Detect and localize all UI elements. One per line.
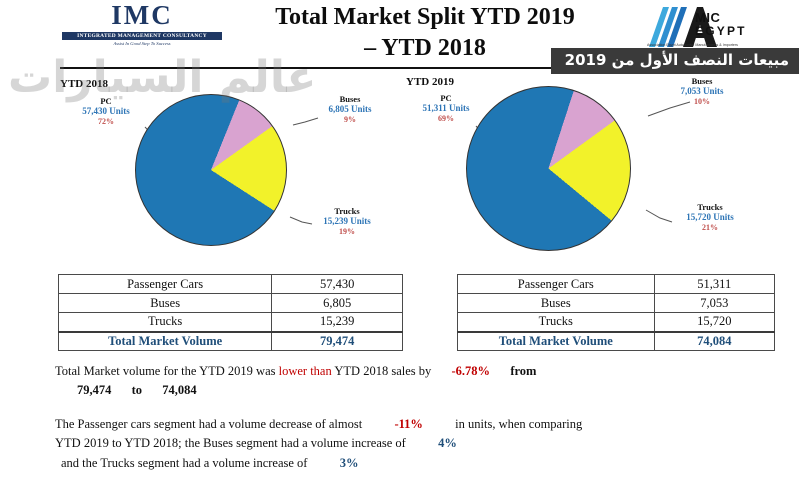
cell-value: 51,311 bbox=[654, 275, 774, 294]
summary-2-line-3: and the Trucks segment had a volume incr… bbox=[55, 454, 582, 473]
chart-panel-ytd-2018: YTD 2018 PC 57,430 Units 72% Buses 6,805… bbox=[50, 72, 410, 262]
table-row: Passenger Cars 51,311 bbox=[458, 275, 775, 294]
summary-1-to-word: to bbox=[132, 383, 142, 397]
cell-label: Trucks bbox=[59, 313, 272, 332]
amic-logo: MIC EGYPT Association Egypt Automotive M… bbox=[643, 3, 761, 49]
callout-pc-percent-right: 69% bbox=[400, 114, 492, 123]
cell-label: Passenger Cars bbox=[458, 275, 655, 294]
summary-paragraph-2: The Passenger cars segment had a volume … bbox=[55, 415, 582, 473]
callout-pc-units-right: 51,311 Units bbox=[400, 103, 492, 114]
callout-pc-right: PC 51,311 Units 69% bbox=[400, 93, 492, 123]
cell-value: 15,720 bbox=[654, 313, 774, 332]
callout-buses-label-right: Buses bbox=[666, 76, 738, 86]
summary-2-pc-percent: -11% bbox=[394, 417, 422, 431]
summary-2-text-c: YTD 2019 to YTD 2018; the Buses segment … bbox=[55, 436, 406, 450]
amic-subtitle: Association Egypt Automotive Manufacture… bbox=[647, 43, 738, 47]
summary-1-text-a: Total Market volume for the YTD 2019 was bbox=[55, 364, 275, 378]
callout-pc-units-left: 57,430 Units bbox=[60, 106, 152, 117]
amic-mic-text: MIC bbox=[695, 11, 747, 24]
table-row: Trucks 15,720 bbox=[458, 313, 775, 332]
arabic-banner: مبيعات النصف الأول من 2019 bbox=[551, 48, 799, 74]
cell-value: 15,239 bbox=[272, 313, 403, 332]
summary-1-to-value: 74,084 bbox=[162, 383, 196, 397]
table-ytd-2018: Passenger Cars 57,430 Buses 6,805 Trucks… bbox=[58, 274, 403, 351]
summary-2-buses-percent: 4% bbox=[438, 436, 457, 450]
summary-1-from-value: 79,474 bbox=[77, 383, 111, 397]
summary-1-highlight: lower than bbox=[279, 364, 332, 378]
callout-buses-percent-left: 9% bbox=[315, 115, 385, 124]
callout-pc-label-right: PC bbox=[400, 93, 492, 103]
callout-trucks-percent-right: 21% bbox=[670, 223, 750, 232]
table-ytd-2019: Passenger Cars 51,311 Buses 7,053 Trucks… bbox=[457, 274, 775, 351]
summary-paragraph-1: Total Market volume for the YTD 2019 was… bbox=[55, 362, 536, 401]
summary-2-line-1: The Passenger cars segment had a volume … bbox=[55, 415, 582, 434]
table-total-row: Total Market Volume 74,084 bbox=[458, 332, 775, 351]
imc-subtagline: Assist In Good Step To Success bbox=[62, 41, 222, 46]
callout-pc-percent-left: 72% bbox=[60, 117, 152, 126]
cell-total-value: 79,474 bbox=[272, 332, 403, 351]
table-total-row: Total Market Volume 79,474 bbox=[59, 332, 403, 351]
callout-trucks-label-right: Trucks bbox=[670, 202, 750, 212]
callout-trucks-label-left: Trucks bbox=[308, 206, 386, 216]
pie-chart-ytd-2018 bbox=[135, 94, 287, 246]
imc-logo: IMC INTEGRATED MANAGEMENT CONSULTANCY As… bbox=[62, 2, 222, 46]
cell-total-label: Total Market Volume bbox=[458, 332, 655, 351]
callout-trucks-units-right: 15,720 Units bbox=[670, 212, 750, 223]
table-row: Trucks 15,239 bbox=[59, 313, 403, 332]
callout-pc-left: PC 57,430 Units 72% bbox=[60, 96, 152, 126]
summary-1-percent: -6.78% bbox=[452, 364, 491, 378]
amic-wordmark: MIC EGYPT bbox=[695, 11, 747, 37]
callout-buses-units-right: 7,053 Units bbox=[666, 86, 738, 97]
cell-label: Passenger Cars bbox=[59, 275, 272, 294]
summary-2-text-d: and the Trucks segment had a volume incr… bbox=[61, 456, 307, 470]
summary-2-line-2: YTD 2019 to YTD 2018; the Buses segment … bbox=[55, 434, 582, 453]
pie-slices-left bbox=[135, 94, 287, 246]
amic-egypt-text: EGYPT bbox=[695, 25, 747, 37]
callout-buses-left: Buses 6,805 Units 9% bbox=[315, 94, 385, 124]
callout-trucks-units-left: 15,239 Units bbox=[308, 216, 386, 227]
cell-label: Trucks bbox=[458, 313, 655, 332]
cell-value: 57,430 bbox=[272, 275, 403, 294]
callout-trucks-percent-left: 19% bbox=[308, 227, 386, 236]
cell-value: 6,805 bbox=[272, 294, 403, 313]
imc-tagline-bar: INTEGRATED MANAGEMENT CONSULTANCY bbox=[62, 32, 222, 40]
cell-total-value: 74,084 bbox=[654, 332, 774, 351]
summary-1-text-c: from bbox=[510, 364, 536, 378]
callout-buses-percent-right: 10% bbox=[666, 97, 738, 106]
callout-trucks-right: Trucks 15,720 Units 21% bbox=[670, 202, 750, 232]
summary-2-trucks-percent: 3% bbox=[340, 456, 359, 470]
cell-label: Buses bbox=[458, 294, 655, 313]
table-row: Passenger Cars 57,430 bbox=[59, 275, 403, 294]
table-row: Buses 7,053 bbox=[458, 294, 775, 313]
cell-value: 7,053 bbox=[654, 294, 774, 313]
callout-buses-label-left: Buses bbox=[315, 94, 385, 104]
callout-pc-label-left: PC bbox=[60, 96, 152, 106]
callout-trucks-left: Trucks 15,239 Units 19% bbox=[308, 206, 386, 236]
summary-1-line-1: Total Market volume for the YTD 2019 was… bbox=[55, 362, 536, 381]
slide-canvas: عالم السيارات IMC INTEGRATED MANAGEMENT … bbox=[0, 0, 799, 480]
summary-2-text-a: The Passenger cars segment had a volume … bbox=[55, 417, 362, 431]
summary-1-line-2: 79,474 to 74,084 bbox=[55, 381, 536, 400]
callout-buses-right: Buses 7,053 Units 10% bbox=[666, 76, 738, 106]
table-row: Buses 6,805 bbox=[59, 294, 403, 313]
summary-1-text-b: YTD 2018 sales by bbox=[334, 364, 431, 378]
title-line-1: Total Market Split YTD 2019 bbox=[225, 2, 625, 33]
chart-panel-ytd-2019: YTD 2019 PC 51,311 Units 69% Buses 7,053… bbox=[398, 68, 793, 263]
callout-buses-units-left: 6,805 Units bbox=[315, 104, 385, 115]
imc-wordmark: IMC bbox=[62, 2, 222, 29]
summary-2-text-b: in units, when comparing bbox=[455, 417, 582, 431]
cell-label: Buses bbox=[59, 294, 272, 313]
cell-total-label: Total Market Volume bbox=[59, 332, 272, 351]
